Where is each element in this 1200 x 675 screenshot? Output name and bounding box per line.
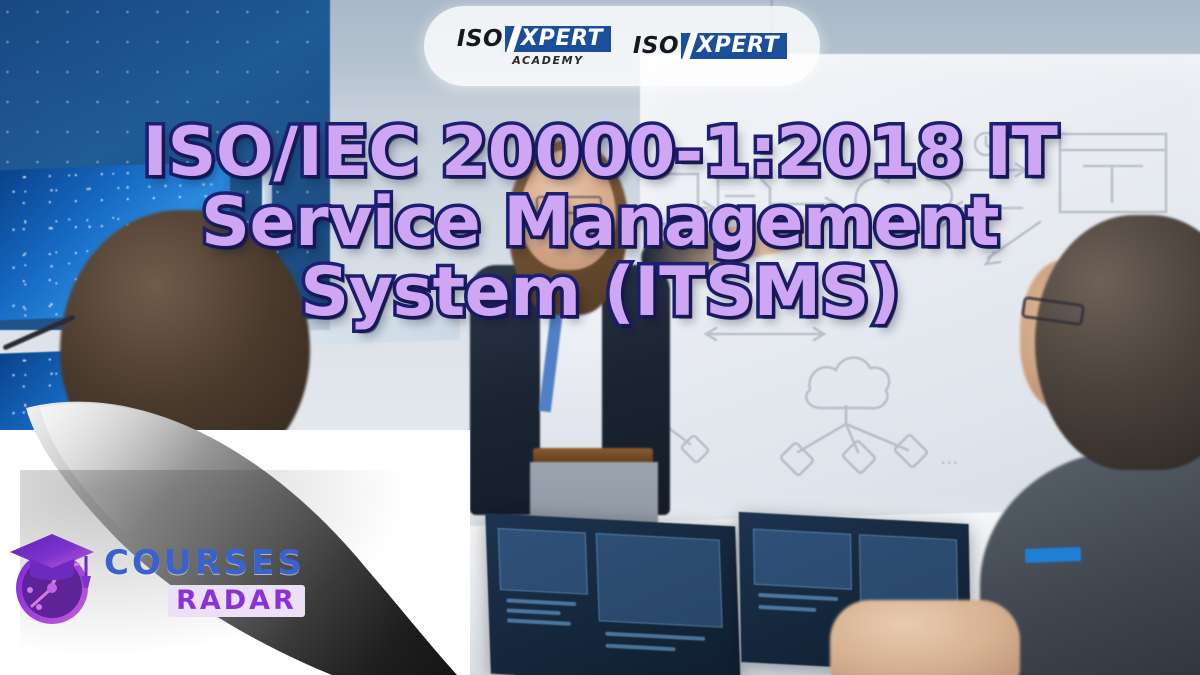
xpert-label-2: XPERT	[697, 33, 779, 58]
isoxpert-logo-banner: ISO XPERT ACADEMY ISO XPERT	[424, 6, 820, 86]
isoxpert-logo: ISO XPERT	[633, 33, 787, 59]
laptop-center	[485, 513, 740, 675]
isoxpert-row: ISO XPERT	[633, 33, 787, 59]
blue-marker	[1025, 547, 1081, 563]
coursesradar-logo[interactable]: COURSES RADAR	[8, 528, 305, 628]
radar-label: RADAR	[168, 585, 305, 617]
graduation-cap-radar-icon	[8, 528, 96, 628]
courses-label: COURSES	[104, 546, 305, 580]
presenter-glasses	[536, 196, 602, 214]
isoxpert-academy-row: ISO XPERT	[457, 26, 611, 52]
xpert-wordmark: XPERT	[505, 26, 611, 52]
academy-sublabel: ACADEMY	[512, 55, 584, 66]
xpert-wordmark-2: XPERT	[681, 33, 787, 59]
coursesradar-wordmark: COURSES RADAR	[104, 540, 305, 617]
iso-wordmark: ISO	[457, 28, 503, 51]
svg-text:...: ...	[940, 444, 958, 469]
isoxpert-academy-logo: ISO XPERT ACADEMY	[457, 26, 611, 66]
attendee-right-hands	[830, 600, 1020, 675]
thumbnail-canvas: ...	[0, 0, 1200, 675]
iso-wordmark-2: ISO	[633, 35, 679, 58]
xpert-label: XPERT	[521, 26, 603, 51]
